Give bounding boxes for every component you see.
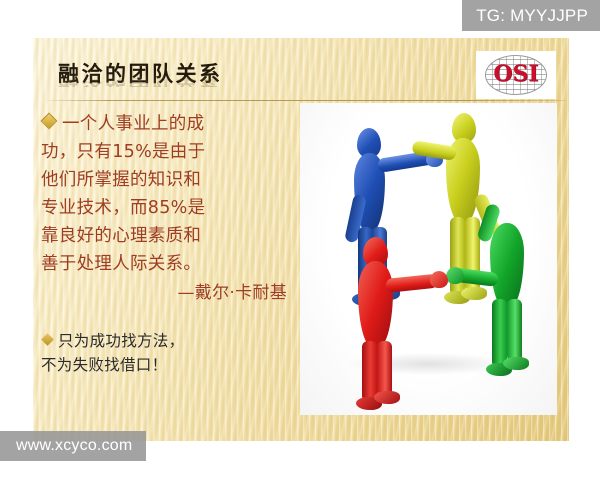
quote-line-4: 专业技术，而85%是 [41,198,205,218]
page-title-reflection: 融洽的团队关系 [58,72,223,87]
quote-line-2: 功，只有15%是由于 [41,142,205,162]
watermark-top-right: TG: MYYJJPP [462,0,600,31]
osi-logo-text: OSI [476,63,556,85]
quote-line-5: 靠良好的心理素质和 [41,226,201,246]
slogan-line-1: 只为成功找方法， [58,332,184,350]
presentation-slide: 融洽的团队关系 融洽的团队关系 OSI 一个人事业上的成 功，只有15%是由于 … [33,38,569,441]
quote-line-1: 一个人事业上的成 [62,114,204,134]
slide-image-panel [300,103,557,415]
diamond-bullet-small-icon [41,333,54,346]
quote-line-6: 善于处理人际关系。 [41,254,201,274]
quote-paragraph: 一个人事业上的成 功，只有15%是由于 他们所掌握的知识和 专业技术，而85%是… [41,110,299,278]
diamond-bullet-icon [41,113,58,130]
slogan-paragraph: 只为成功找方法， 不为失败找借口！ [41,329,299,377]
screenshot-canvas: 融洽的团队关系 融洽的团队关系 OSI 一个人事业上的成 功，只有15%是由于 … [0,0,600,480]
title-divider [47,100,565,101]
quote-attribution: —戴尔·卡耐基 [41,279,299,307]
quote-line-3: 他们所掌握的知识和 [41,170,201,190]
four-figures-holding-hands [300,103,557,415]
osi-logo: OSI [476,51,556,99]
slide-body-text: 一个人事业上的成 功，只有15%是由于 他们所掌握的知识和 专业技术，而85%是… [41,110,299,377]
watermark-bottom-left: www.xcyco.com [0,431,146,461]
slogan-line-2: 不为失败找借口！ [41,356,167,374]
